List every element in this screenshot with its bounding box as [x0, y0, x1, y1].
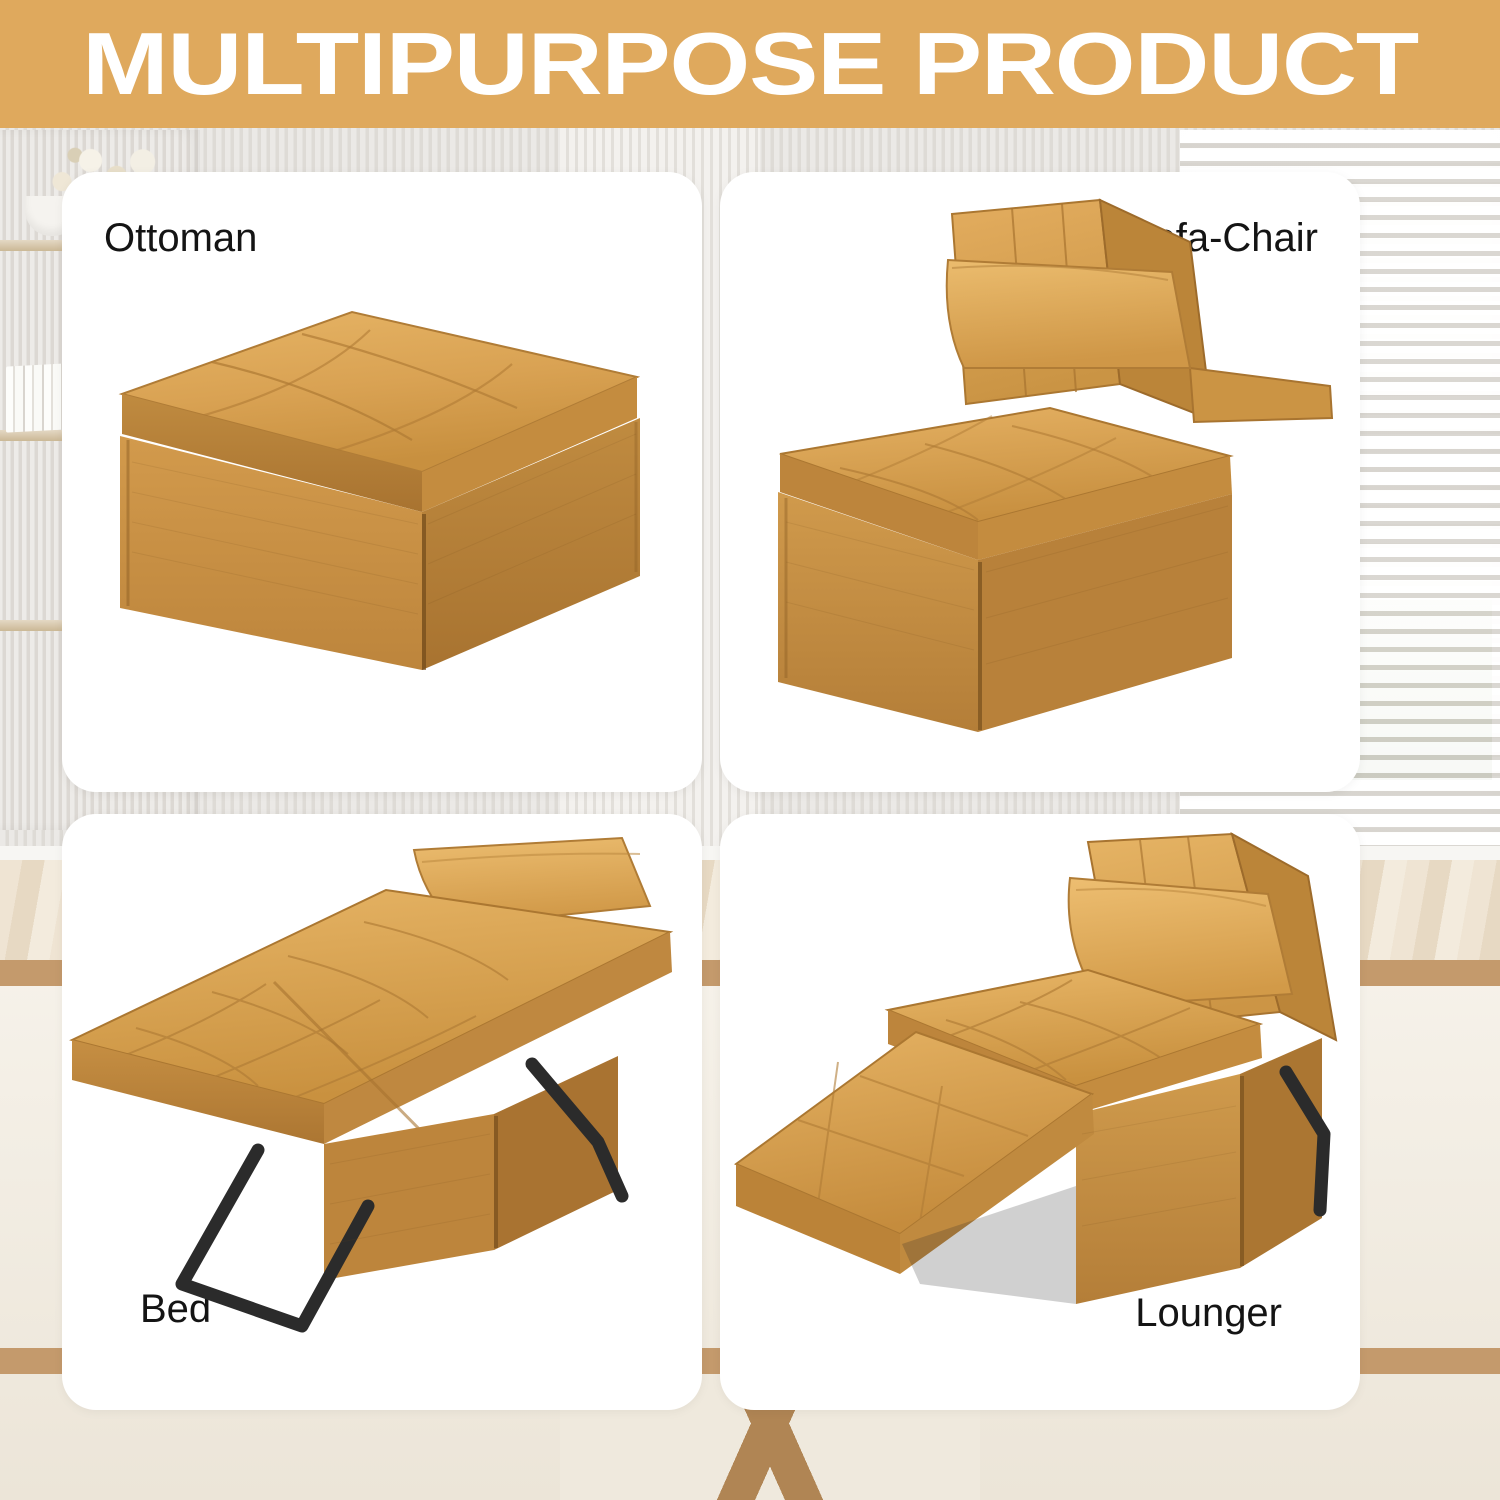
ottoman-svg — [62, 172, 702, 792]
header-banner: MULTIPURPOSE PRODUCT — [0, 0, 1500, 128]
panel-sofa-chair[interactable]: Sofa-Chair — [720, 172, 1360, 792]
bed-svg — [62, 814, 702, 1410]
panel-ottoman[interactable]: Ottoman — [62, 172, 702, 792]
mode-card-grid: Ottoman — [62, 172, 1438, 1430]
ottoman-illustration — [62, 172, 702, 792]
panel-lounger[interactable]: Lounger — [720, 814, 1360, 1410]
banner-title: MULTIPURPOSE PRODUCT — [82, 20, 1418, 108]
panel-bed[interactable]: Bed — [62, 814, 702, 1410]
lounger-illustration — [720, 814, 1360, 1410]
product-infographic: MULTIPURPOSE PRODUCT Ottoman — [0, 0, 1500, 1500]
sofa-chair-illustration — [720, 172, 1360, 792]
books-decor — [6, 363, 66, 432]
bed-illustration — [62, 814, 702, 1410]
sofa-chair-svg — [720, 172, 1360, 792]
lounger-svg — [720, 814, 1360, 1410]
